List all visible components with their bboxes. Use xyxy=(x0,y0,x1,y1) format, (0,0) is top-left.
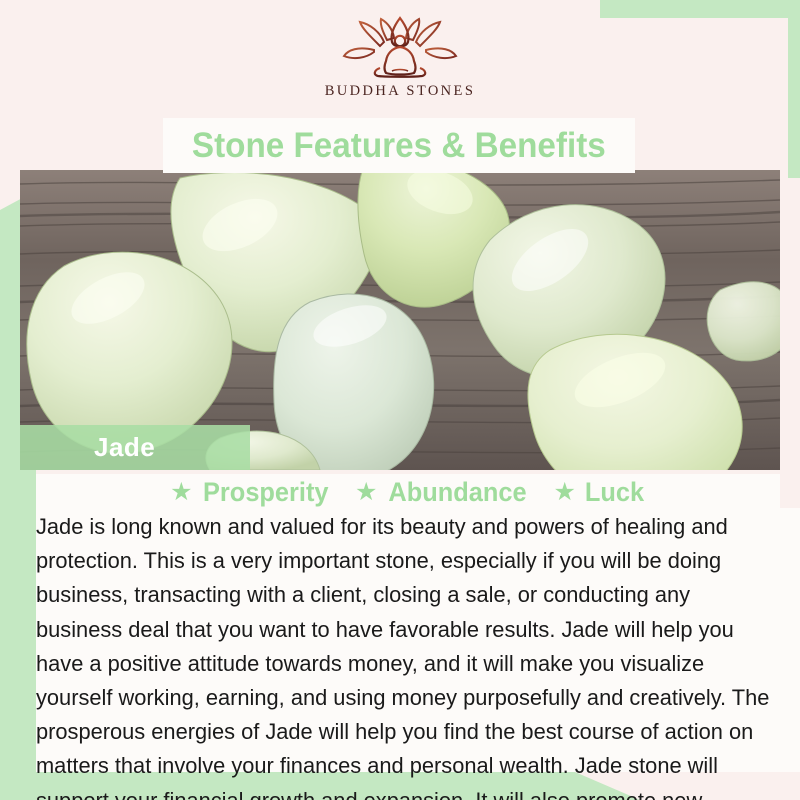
benefit-label: Luck xyxy=(585,477,644,508)
infographic-page: BUDDHA STONES Stone Features & Benefits xyxy=(0,0,800,800)
section-title-band: Stone Features & Benefits xyxy=(163,118,635,173)
star-icon: ★ xyxy=(553,480,575,505)
brand-name: BUDDHA STONES xyxy=(325,83,476,100)
benefit-item-prosperity: ★ Prosperity xyxy=(170,477,333,508)
benefits-row: ★ Prosperity ★ Abundance ★ Luck xyxy=(36,474,780,510)
lotus-meditation-icon xyxy=(340,16,460,78)
star-icon: ★ xyxy=(170,480,192,505)
brand-header: BUDDHA STONES xyxy=(0,0,800,118)
stone-name-label: Jade xyxy=(94,432,155,463)
benefit-item-luck: ★ Luck xyxy=(553,477,645,508)
stone-name-band: Jade xyxy=(20,425,250,470)
page-title: Stone Features & Benefits xyxy=(192,126,606,166)
description-panel: Jade is long known and valued for its be… xyxy=(36,508,800,772)
benefit-item-abundance: ★ Abundance xyxy=(355,477,531,508)
description-text: Jade is long known and valued for its be… xyxy=(36,510,771,800)
star-icon: ★ xyxy=(355,480,377,505)
benefit-label: Abundance xyxy=(389,477,527,508)
benefit-label: Prosperity xyxy=(203,477,329,508)
